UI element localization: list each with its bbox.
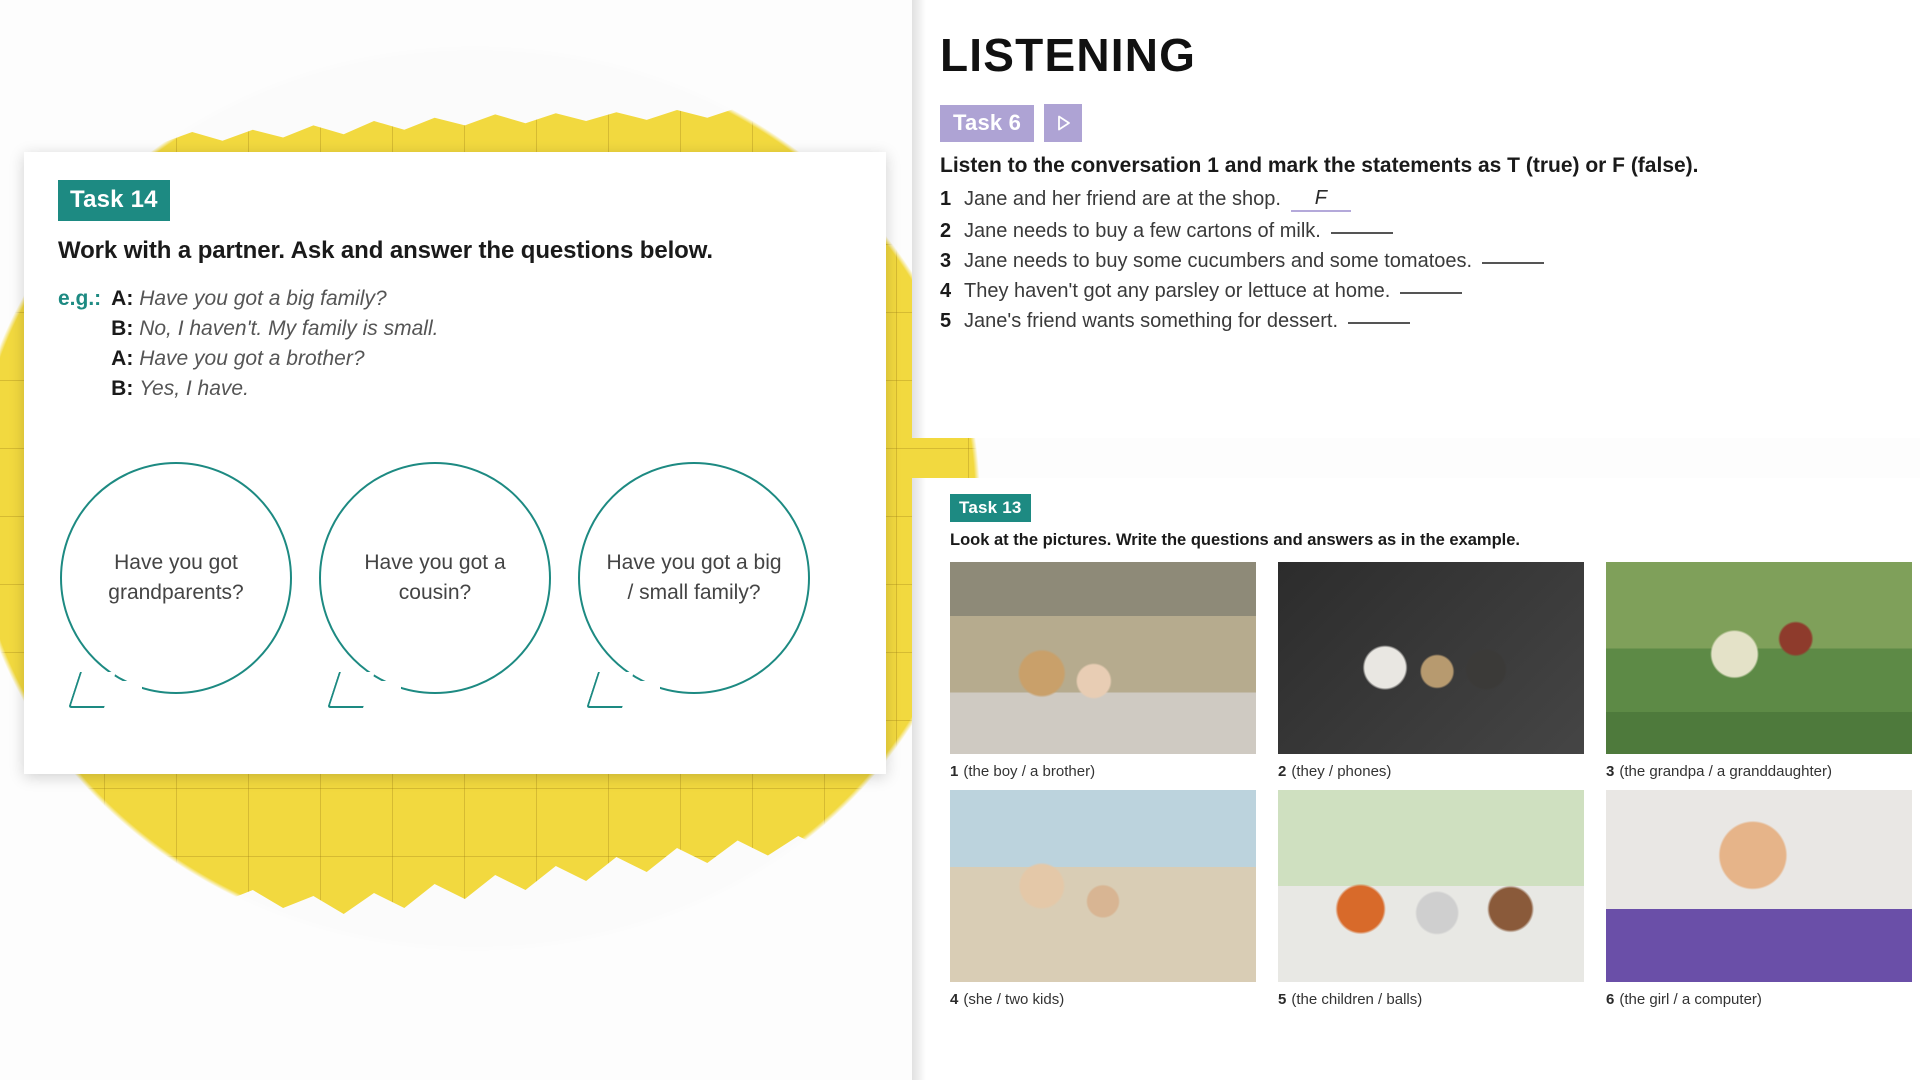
listening-heading: LISTENING [940, 32, 1900, 78]
picture-caption: 5(the children / balls) [1278, 991, 1584, 1008]
statement-answer-field[interactable]: F [1291, 187, 1351, 212]
picture-number: 6 [1606, 991, 1614, 1008]
dialogue-text: Have you got a brother? [139, 347, 364, 370]
example-label: e.g.: [58, 287, 101, 401]
picture-image-6 [1606, 790, 1912, 982]
picture-image-4 [950, 790, 1256, 982]
dialogue-line: B: No, I haven't. My family is small. [111, 317, 438, 341]
picture-image-5 [1278, 790, 1584, 982]
speech-bubble-text: Have you got a cousin? [321, 548, 549, 609]
picture-number: 4 [950, 991, 958, 1008]
picture-number: 1 [950, 763, 958, 780]
task6-badge: Task 6 [940, 105, 1034, 142]
statement-answer-field[interactable] [1482, 262, 1544, 264]
statement-answer-field[interactable] [1331, 232, 1393, 234]
statement-row: 2 Jane needs to buy a few cartons of mil… [940, 220, 1900, 243]
bubble-tail-mask [72, 681, 142, 695]
dialogue-text: Have you got a big family? [139, 287, 386, 310]
task13-picture-grid: 1(the boy / a brother) 2(they / phones) … [950, 562, 1910, 1018]
task13-instruction: Look at the pictures. Write the question… [950, 531, 1910, 550]
dialogue-text: Yes, I have. [139, 377, 249, 400]
picture-caption: 2(they / phones) [1278, 763, 1584, 780]
picture-cell: 4(she / two kids) [950, 790, 1256, 1008]
bubble-tail-mask [331, 681, 401, 695]
picture-caption: 4(she / two kids) [950, 991, 1256, 1008]
picture-cell: 1(the boy / a brother) [950, 562, 1256, 780]
statement-answer-field[interactable] [1348, 322, 1410, 324]
picture-number: 5 [1278, 991, 1286, 1008]
dialogue-speaker: A: [111, 347, 133, 370]
task13-sheet-shadow [912, 478, 926, 1080]
speech-bubble: Have you got a big / small family? [578, 462, 810, 694]
statement-text: Jane needs to buy some cucumbers and som… [964, 250, 1472, 273]
listening-section: LISTENING Task 6 Listen to the conversat… [940, 32, 1900, 340]
dialogue-line: B: Yes, I have. [111, 377, 438, 401]
task6-instruction: Listen to the conversation 1 and mark th… [940, 154, 1900, 178]
picture-image-3 [1606, 562, 1912, 754]
picture-prompt: (she / two kids) [963, 991, 1064, 1008]
picture-image-2 [1278, 562, 1584, 754]
statement-text: Jane needs to buy a few cartons of milk. [964, 220, 1321, 243]
play-icon[interactable] [1044, 104, 1082, 142]
dialogue-speaker: A: [111, 287, 133, 310]
statement-number: 2 [940, 220, 964, 243]
picture-cell: 5(the children / balls) [1278, 790, 1584, 1008]
picture-prompt: (the girl / a computer) [1619, 991, 1762, 1008]
picture-caption: 1(the boy / a brother) [950, 763, 1256, 780]
task14-instruction: Work with a partner. Ask and answer the … [58, 237, 852, 265]
statement-number: 3 [940, 250, 964, 273]
picture-caption: 3(the grandpa / a granddaughter) [1606, 763, 1912, 780]
picture-cell: 6(the girl / a computer) [1606, 790, 1912, 1008]
picture-caption: 6(the girl / a computer) [1606, 991, 1912, 1008]
statement-number: 4 [940, 280, 964, 303]
listening-sheet-shadow [912, 0, 926, 438]
dialogue-speaker: B: [111, 377, 133, 400]
dialogue-text: No, I haven't. My family is small. [139, 317, 438, 340]
statement-row: 4 They haven't got any parsley or lettuc… [940, 280, 1900, 303]
statement-number: 1 [940, 188, 964, 211]
statement-answer-field[interactable] [1400, 292, 1462, 294]
speech-bubble: Have you got grandparents? [60, 462, 292, 694]
picture-prompt: (they / phones) [1291, 763, 1391, 780]
statement-row: 5 Jane's friend wants something for dess… [940, 310, 1900, 333]
bubble-tail-mask [590, 681, 660, 695]
picture-image-1 [950, 562, 1256, 754]
picture-number: 2 [1278, 763, 1286, 780]
statement-text: They haven't got any parsley or lettuce … [964, 280, 1390, 303]
speech-bubble: Have you got a cousin? [319, 462, 551, 694]
dialogue-speaker: B: [111, 317, 133, 340]
task13-badge: Task 13 [950, 494, 1031, 522]
task14-example-block: e.g.: A: Have you got a big family? B: N… [58, 287, 852, 401]
picture-prompt: (the children / balls) [1291, 991, 1422, 1008]
task14-badge: Task 14 [58, 180, 170, 221]
example-dialogue-lines: A: Have you got a big family? B: No, I h… [111, 287, 438, 401]
picture-number: 3 [1606, 763, 1614, 780]
picture-cell: 3(the grandpa / a granddaughter) [1606, 562, 1912, 780]
task6-header-row: Task 6 [940, 104, 1900, 142]
task14-card: Task 14 Work with a partner. Ask and ans… [24, 152, 886, 774]
statement-text: Jane and her friend are at the shop. [964, 188, 1281, 211]
picture-prompt: (the grandpa / a granddaughter) [1619, 763, 1832, 780]
statement-number: 5 [940, 310, 964, 333]
picture-prompt: (the boy / a brother) [963, 763, 1095, 780]
speech-bubble-text: Have you got a big / small family? [580, 548, 808, 609]
question-bubbles-group: Have you got grandparents? Have you got … [60, 462, 810, 694]
statement-row: 1 Jane and her friend are at the shop. F [940, 188, 1900, 213]
picture-cell: 2(they / phones) [1278, 562, 1584, 780]
task13-section: Task 13 Look at the pictures. Write the … [950, 494, 1910, 1018]
dialogue-line: A: Have you got a brother? [111, 347, 438, 371]
statement-text: Jane's friend wants something for desser… [964, 310, 1338, 333]
statement-row: 3 Jane needs to buy some cucumbers and s… [940, 250, 1900, 273]
speech-bubble-text: Have you got grandparents? [62, 548, 290, 609]
dialogue-line: A: Have you got a big family? [111, 287, 438, 311]
